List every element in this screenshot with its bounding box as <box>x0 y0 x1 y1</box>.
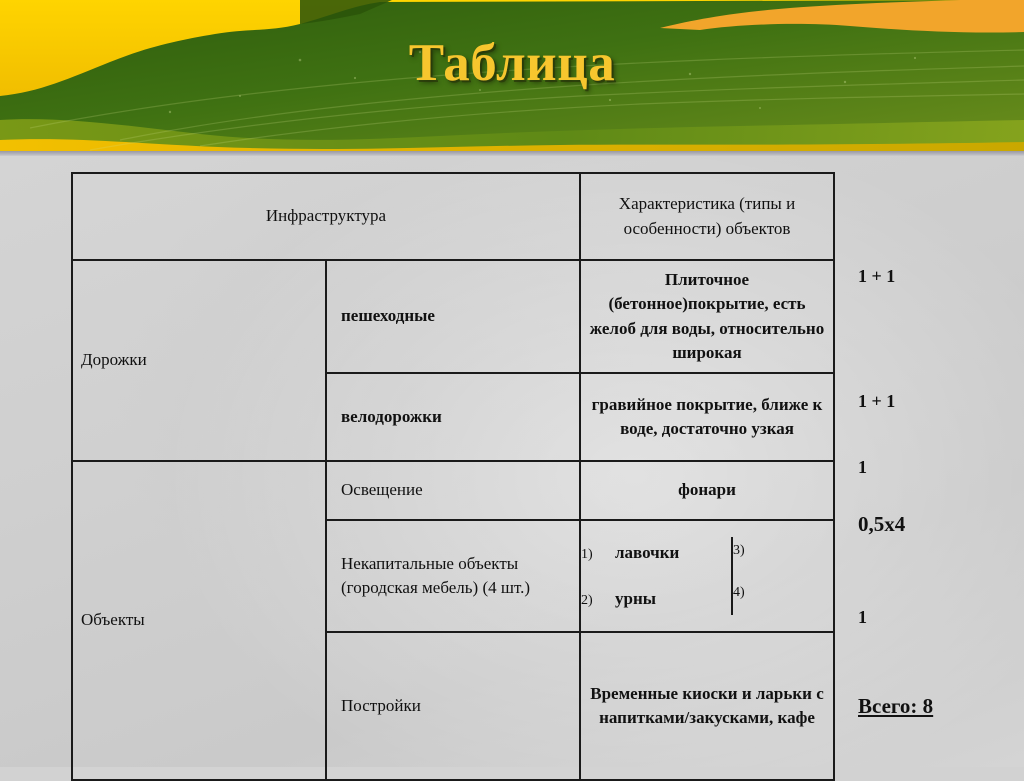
group-label-objects: Объекты <box>72 461 326 780</box>
list-item: 3) <box>733 541 833 561</box>
type-bike: велодорожки <box>326 373 580 461</box>
characteristic-buildings: Временные киоски и ларьки с напитками/за… <box>580 632 834 780</box>
item-index: 4) <box>733 583 767 603</box>
page-title: Таблица <box>0 33 1024 93</box>
annotation-paths-pedestrian: 1 + 1 <box>858 266 895 287</box>
street-furniture-items-left: 1) лавочки 2) урны <box>581 537 732 615</box>
slide-canvas: Таблица Инфраструктура Характеристика (т… <box>0 0 1024 767</box>
group-label-paths: Дорожки <box>72 260 326 461</box>
banner-divider <box>0 151 1024 156</box>
annotation-lighting: 1 <box>858 457 867 478</box>
list-item: 1) лавочки <box>581 541 731 565</box>
list-item: 2) урны <box>581 587 731 611</box>
characteristic-bike: гравийное покрытие, ближе к воде, достат… <box>580 373 834 461</box>
characteristic-street-furniture: 1) лавочки 2) урны <box>580 520 834 632</box>
type-pedestrian: пешеходные <box>326 260 580 373</box>
header-infrastructure: Инфраструктура <box>72 173 580 260</box>
infrastructure-table: Инфраструктура Характеристика (типы и ос… <box>71 172 835 781</box>
annotation-paths-bike: 1 + 1 <box>858 391 895 412</box>
annotation-buildings: 1 <box>858 607 867 628</box>
header-characteristic: Характеристика (типы и особенности) объе… <box>580 173 834 260</box>
type-buildings: Постройки <box>326 632 580 780</box>
characteristic-pedestrian: Плиточное (бетонное)покрытие, есть желоб… <box>580 260 834 373</box>
item-label: урны <box>615 587 656 611</box>
street-furniture-split: 1) лавочки 2) урны <box>581 537 833 615</box>
annotation-total: Всего: 8 <box>858 694 933 719</box>
characteristic-lighting: фонари <box>580 461 834 520</box>
type-lighting: Освещение <box>326 461 580 520</box>
street-furniture-items-right: 3) 4) <box>732 537 833 615</box>
item-index: 1) <box>581 545 615 565</box>
annotation-street-furniture: 0,5х4 <box>858 512 905 537</box>
item-label: лавочки <box>615 541 679 565</box>
title-banner: Таблица <box>0 0 1024 151</box>
list-item: 4) <box>733 583 833 603</box>
table-header-row: Инфраструктура Характеристика (типы и ос… <box>72 173 834 260</box>
item-index: 2) <box>581 591 615 611</box>
table-row: Объекты Освещение фонари <box>72 461 834 520</box>
type-street-furniture: Некапитальные объекты (городская мебель)… <box>326 520 580 632</box>
infrastructure-table-wrap: Инфраструктура Характеристика (типы и ос… <box>71 172 835 781</box>
table-row: Дорожки пешеходные Плиточное (бетонное)п… <box>72 260 834 373</box>
item-index: 3) <box>733 541 767 561</box>
